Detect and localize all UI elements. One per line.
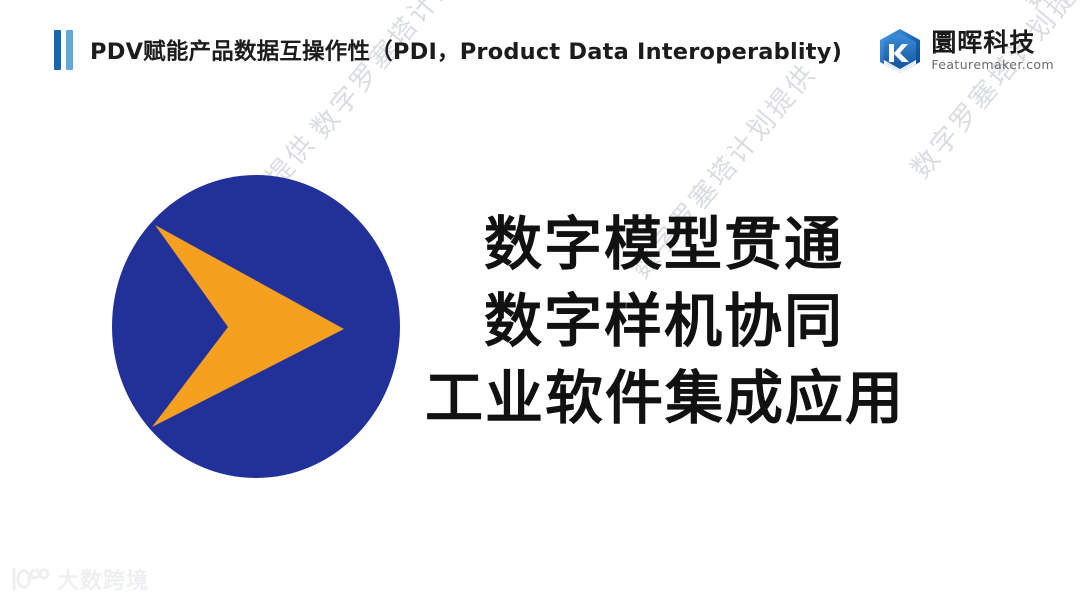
headline-line-2: 数字样机协同	[418, 283, 905, 360]
arrow-circle-emblem-icon	[112, 175, 400, 478]
brand-text-block: 圜晖科技 Featuremaker.com	[931, 30, 1054, 72]
dashu-kuajing-logo-icon	[10, 566, 50, 592]
headline-line-1: 数字模型贯通	[418, 206, 905, 283]
title-row: PDV赋能产品数据互操作性（PDI，Product Data Interoper…	[54, 30, 842, 70]
hexagon-cube-logo-icon	[878, 28, 922, 74]
title-accent-bars-icon	[54, 30, 73, 70]
headline-line-3: 工业软件集成应用	[418, 360, 905, 437]
brand-name: 圜晖科技	[931, 30, 1054, 55]
accent-bar-dark-icon	[54, 30, 61, 70]
corner-watermark-text: 大数跨境	[57, 563, 149, 595]
accent-bar-light-icon	[66, 30, 73, 70]
headline-block: 数字模型贯通 数字样机协同 工业软件集成应用	[418, 206, 905, 437]
corner-watermark: 大数跨境	[10, 563, 149, 595]
page-title: PDV赋能产品数据互操作性（PDI，Product Data Interoper…	[90, 34, 842, 66]
slide-canvas: 数字罗塞塔计划提供 数字罗塞塔计划提供 数字罗塞塔计划提供 数字罗塞塔计划提供 …	[0, 0, 1080, 607]
slide-header: PDV赋能产品数据互操作性（PDI，Product Data Interoper…	[0, 0, 1080, 104]
brand-logo: 圜晖科技 Featuremaker.com	[878, 28, 1054, 74]
brand-domain: Featuremaker.com	[931, 59, 1054, 72]
